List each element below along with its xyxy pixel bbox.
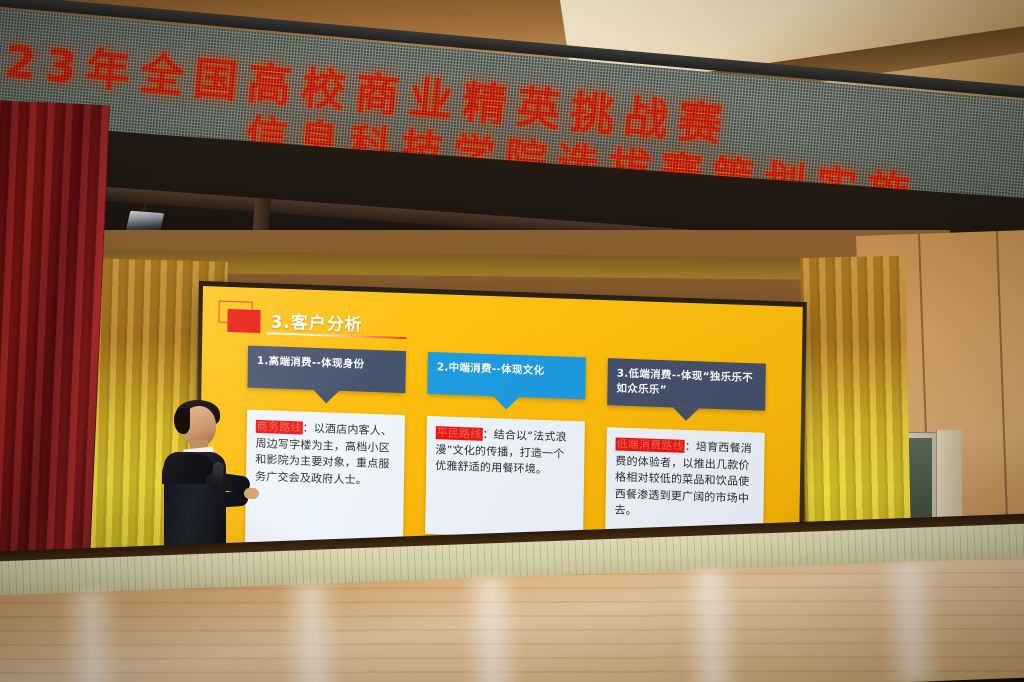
- page-title: 3.客户分析: [270, 307, 363, 335]
- column-header-3: 3.低端消费--体现“独乐乐不如众乐乐”: [607, 358, 766, 411]
- floor-light-reflection: [460, 576, 524, 682]
- slide-title-row: 3.客户分析: [218, 301, 778, 355]
- slide-column-1: 1.高端消费--体现身份 商务路线：以酒店内客人、周边写字楼为主，高档小区和影院…: [245, 346, 406, 555]
- column-body-1-separator: ：: [302, 422, 313, 435]
- floor-light-reflection: [680, 568, 744, 682]
- presenter-arm-lower: [208, 491, 249, 509]
- floor-light-reflection: [879, 561, 943, 682]
- header-notch-arrow-icon: [313, 390, 339, 404]
- floor-light-reflection: [280, 583, 344, 682]
- column-body-2: 平民路线：结合以“法式浪漫”文化的传播，打造一个优雅舒适的用餐环境。: [425, 416, 585, 540]
- red-square-filled-icon: [227, 309, 260, 333]
- column-header-2-label: 2.中端消费--体现文化: [437, 360, 577, 380]
- floor-light-reflection: [60, 591, 124, 682]
- slide-column-2: 2.中端消费--体现文化 平民路线：结合以“法式浪漫”文化的传播，打造一个优雅舒…: [425, 352, 586, 539]
- column-body-1: 商务路线：以酒店内客人、周边写字楼为主，高档小区和影院为主要对象，重点服务广交会…: [245, 410, 405, 555]
- column-header-1: 1.高端消费--体现身份: [247, 346, 406, 394]
- column-header-2: 2.中端消费--体现文化: [427, 352, 586, 400]
- auditorium-scene: 23年全国高校商业精英挑战赛 信息科技学院选拔赛策划实施: [0, 0, 1024, 682]
- presenter-hair-side: [174, 408, 190, 434]
- column-header-1-label: 1.高端消费--体现身份: [257, 354, 397, 374]
- column-body-2-highlight: 平民路线: [436, 426, 483, 441]
- column-header-3-label: 3.低端消费--体现“独乐乐不如众乐乐”: [616, 366, 756, 401]
- column-body-3-separator: ：: [685, 440, 696, 453]
- header-notch-arrow-icon: [673, 408, 699, 422]
- column-body-3-highlight: 低端消费路线: [615, 438, 684, 453]
- presenter-hand: [244, 488, 259, 499]
- column-body-2-separator: ：: [482, 428, 493, 441]
- header-notch-arrow-icon: [493, 396, 519, 410]
